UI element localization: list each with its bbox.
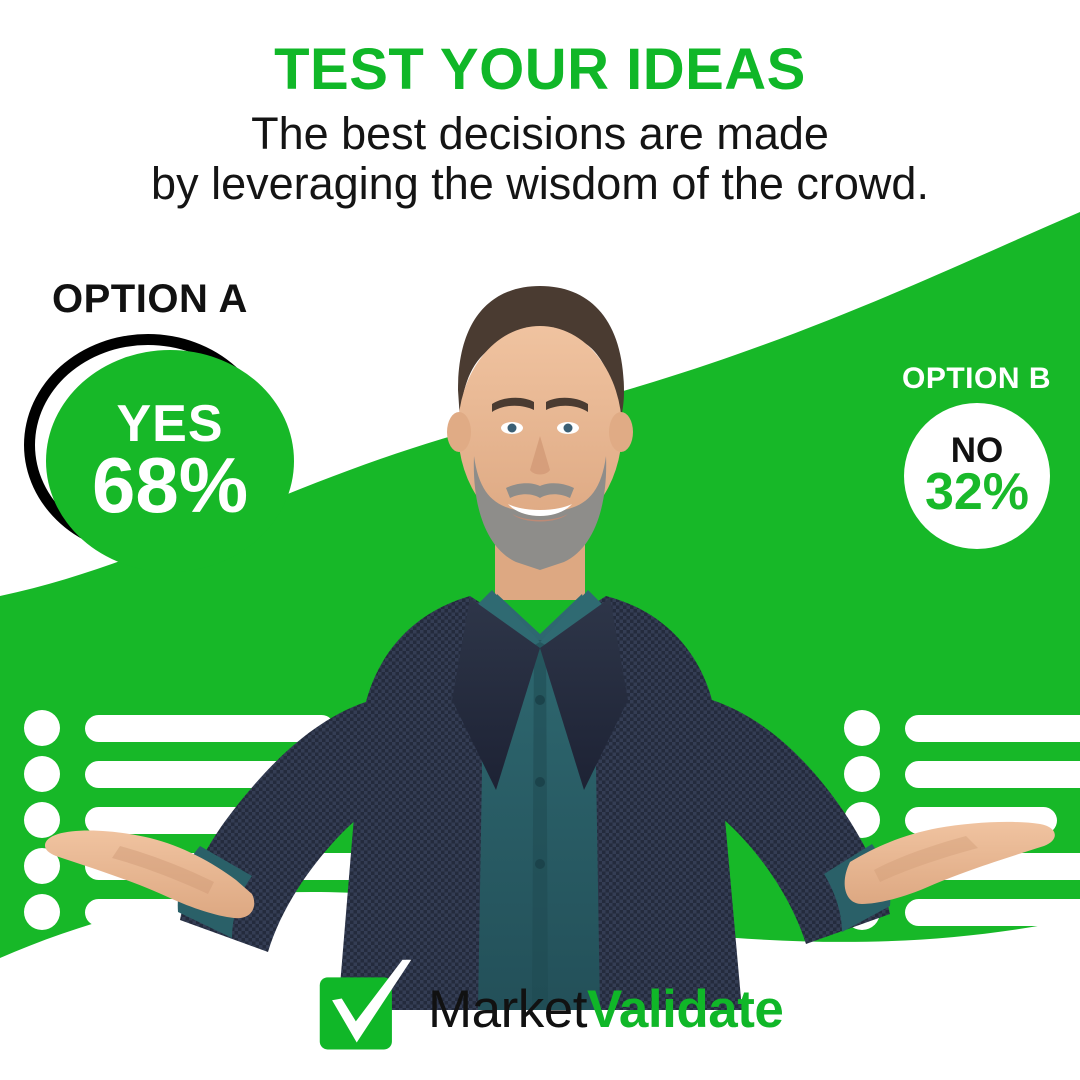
option-a-badge[interactable]: YES 68% [24,334,292,576]
bullet-list-right [844,706,1080,936]
bullet-dot-icon [844,894,880,930]
placeholder-text-bar [905,899,1080,926]
bullet-dot-icon [844,848,880,884]
list-item [24,706,377,750]
header-block: TEST YOUR IDEAS The best decisions are m… [0,40,1080,210]
subtitle-line-1: The best decisions are made [0,109,1080,159]
page-subtitle: The best decisions are made by leveragin… [0,109,1080,210]
option-a-percent: 68% [92,448,248,522]
option-b-percent: 32% [925,467,1029,518]
bullet-dot-icon [844,756,880,792]
subtitle-line-2: by leveraging the wisdom of the crowd. [0,159,1080,209]
list-item [844,706,1080,750]
placeholder-text-bar [85,853,370,880]
list-item [24,798,377,842]
list-item [844,890,1080,934]
placeholder-text-bar [85,715,335,742]
poster-canvas: TEST YOUR IDEAS The best decisions are m… [0,0,1080,1080]
brand-name-part-2: Validate [587,980,783,1039]
placeholder-text-bar [905,715,1080,742]
bullet-dot-icon [24,710,60,746]
brand-wordmark: MarketValidate [428,983,783,1036]
option-a-disc: YES 68% [46,350,294,572]
bullet-dot-icon [24,894,60,930]
bullet-dot-icon [844,802,880,838]
option-b-badge[interactable]: NO 32% [904,403,1050,549]
bullet-dot-icon [844,710,880,746]
list-item [844,844,1080,888]
placeholder-text-bar [85,761,357,788]
page-title: TEST YOUR IDEAS [0,40,1080,101]
option-a-label: OPTION A [52,277,248,322]
placeholder-text-bar [905,853,1080,880]
bullet-list-left [24,706,377,936]
bullet-dot-icon [24,802,60,838]
brand-name-part-1: Market [428,980,587,1039]
list-item [24,890,377,934]
bullet-dot-icon [24,756,60,792]
brand-logo[interactable]: MarketValidate [318,965,783,1053]
placeholder-text-bar [905,807,1057,834]
list-item [24,844,377,888]
placeholder-text-bar [85,807,300,834]
list-item [844,798,1080,842]
bullet-dot-icon [24,848,60,884]
list-item [844,752,1080,796]
check-box-icon [318,965,406,1053]
option-b-label: OPTION B [902,362,1051,396]
list-item [24,752,377,796]
placeholder-text-bar [905,761,1080,788]
placeholder-text-bar [85,899,377,926]
